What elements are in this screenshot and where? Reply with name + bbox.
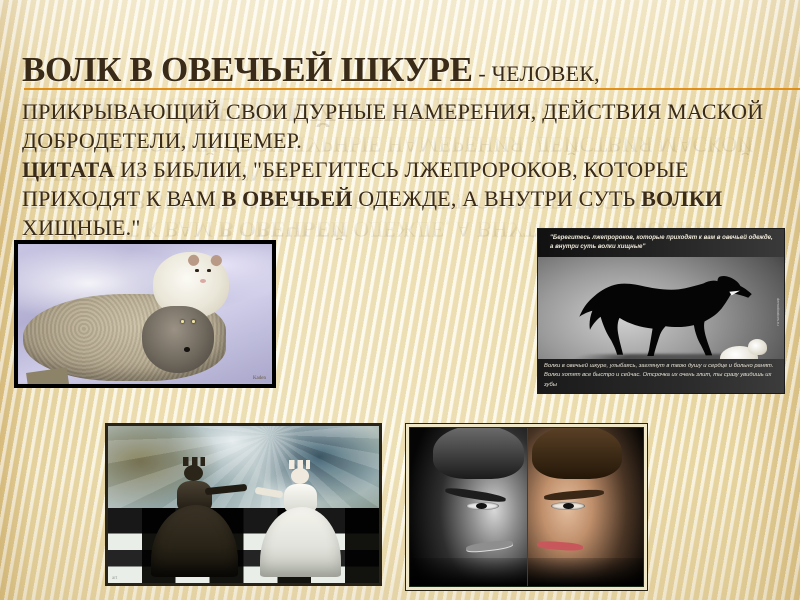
image-wolf-silhouette-poster[interactable]: "Берегитесь лжепророков, которые приходя… [537,228,785,394]
white-queen-gown [260,507,341,577]
image-chess-queens[interactable]: art [105,423,382,586]
sheep-eye-right [207,269,210,272]
angry-face-jacket [410,558,527,586]
sheep-nose [200,279,206,283]
angry-face-brow [445,486,506,503]
wolf-head-shape [142,306,213,373]
slide-text-block: ВОЛК В ОВЕЧЬЕЙ ШКУРЕ - ЧЕЛОВЕК, ПРИКРЫВА… [22,52,782,239]
split-face-inner-frame [409,427,644,587]
angry-face-mouth [466,539,513,553]
headline-tail: - ЧЕЛОВЕК, [473,61,600,86]
sheep-ear-left [186,253,201,268]
poster-watermark: demotivators.ru [776,298,781,326]
wolf-eye-left [181,320,185,323]
sheep-eye-left [195,269,198,272]
wolf-nose [184,347,190,352]
face-half-calm-color [527,428,644,586]
slide-headline: ВОЛК В ОВЕЧЬЕЙ ШКУРЕ - ЧЕЛОВЕК, [22,52,782,87]
poster-caption-bottom: Волки в овечьей шкуре, улыбаясь, загляну… [538,359,784,393]
quote-line-1-text: ИЗ БИБЛИИ, "БЕРЕГИТЕСЬ ЛЖЕПРОРОКОВ, КОТО… [114,157,688,182]
quote-emphasis-wolves: ВОЛКИ [641,186,722,211]
artwork-signature: art [112,576,117,581]
definition-line-1: ПРИКРЫВАЮЩИЙ СВОИ ДУРНЫЕ НАМЕРЕНИЯ, ДЕЙС… [22,101,782,123]
white-queen-head [291,468,309,484]
black-queen-head [184,465,203,481]
black-queen-figure [151,461,238,577]
angry-face-hair [433,428,524,479]
quote-emphasis-sheep: В ОВЕЧЬЕЙ [222,186,353,211]
calm-face-pupil [563,503,573,509]
quote-line-2a: ПРИХОДЯТ К ВАМ [22,186,222,211]
white-queen-figure [260,464,341,577]
lamb-head [748,339,767,355]
poster-caption-top: "Берегитесь лжепророков, которые приходя… [538,229,784,257]
face-half-angry-monochrome [410,428,527,586]
calm-face-brow [543,489,604,502]
image-sheep-in-wolfs-body[interactable]: Kaden [14,240,276,388]
headline-term: ВОЛК В ОВЕЧЬЕЙ ШКУРЕ [22,50,473,89]
bible-quote-line-2: ПРИХОДЯТ К ВАМ В ОВЕЧЬЕЙ ОДЕЖДЕ, А ВНУТР… [22,188,782,210]
quote-label: ЦИТАТА [22,157,114,182]
calm-face-mouth [537,540,584,551]
bible-quote-line-1: ЦИТАТА ИЗ БИБЛИИ, "БЕРЕГИТЕСЬ ЛЖЕПРОРОКО… [22,159,782,181]
calm-face-jacket [528,558,644,586]
black-queen-gown [151,505,238,577]
definition-line-2: ДОБРОДЕТЕЛИ, ЛИЦЕМЕР. [22,130,782,152]
quote-line-2b: ОДЕЖДЕ, А ВНУТРИ СУТЬ [353,186,642,211]
presentation-slide: ВОЛК В ОВЕЧЬЕЙ ШКУРЕ - ЧЕЛОВЕК, ПРИКРЫВА… [0,0,800,600]
image-split-face[interactable] [405,423,648,591]
wolf-eye-right [192,320,196,323]
calm-face-hair [532,428,622,479]
photo-signature: Kaden [253,376,266,381]
